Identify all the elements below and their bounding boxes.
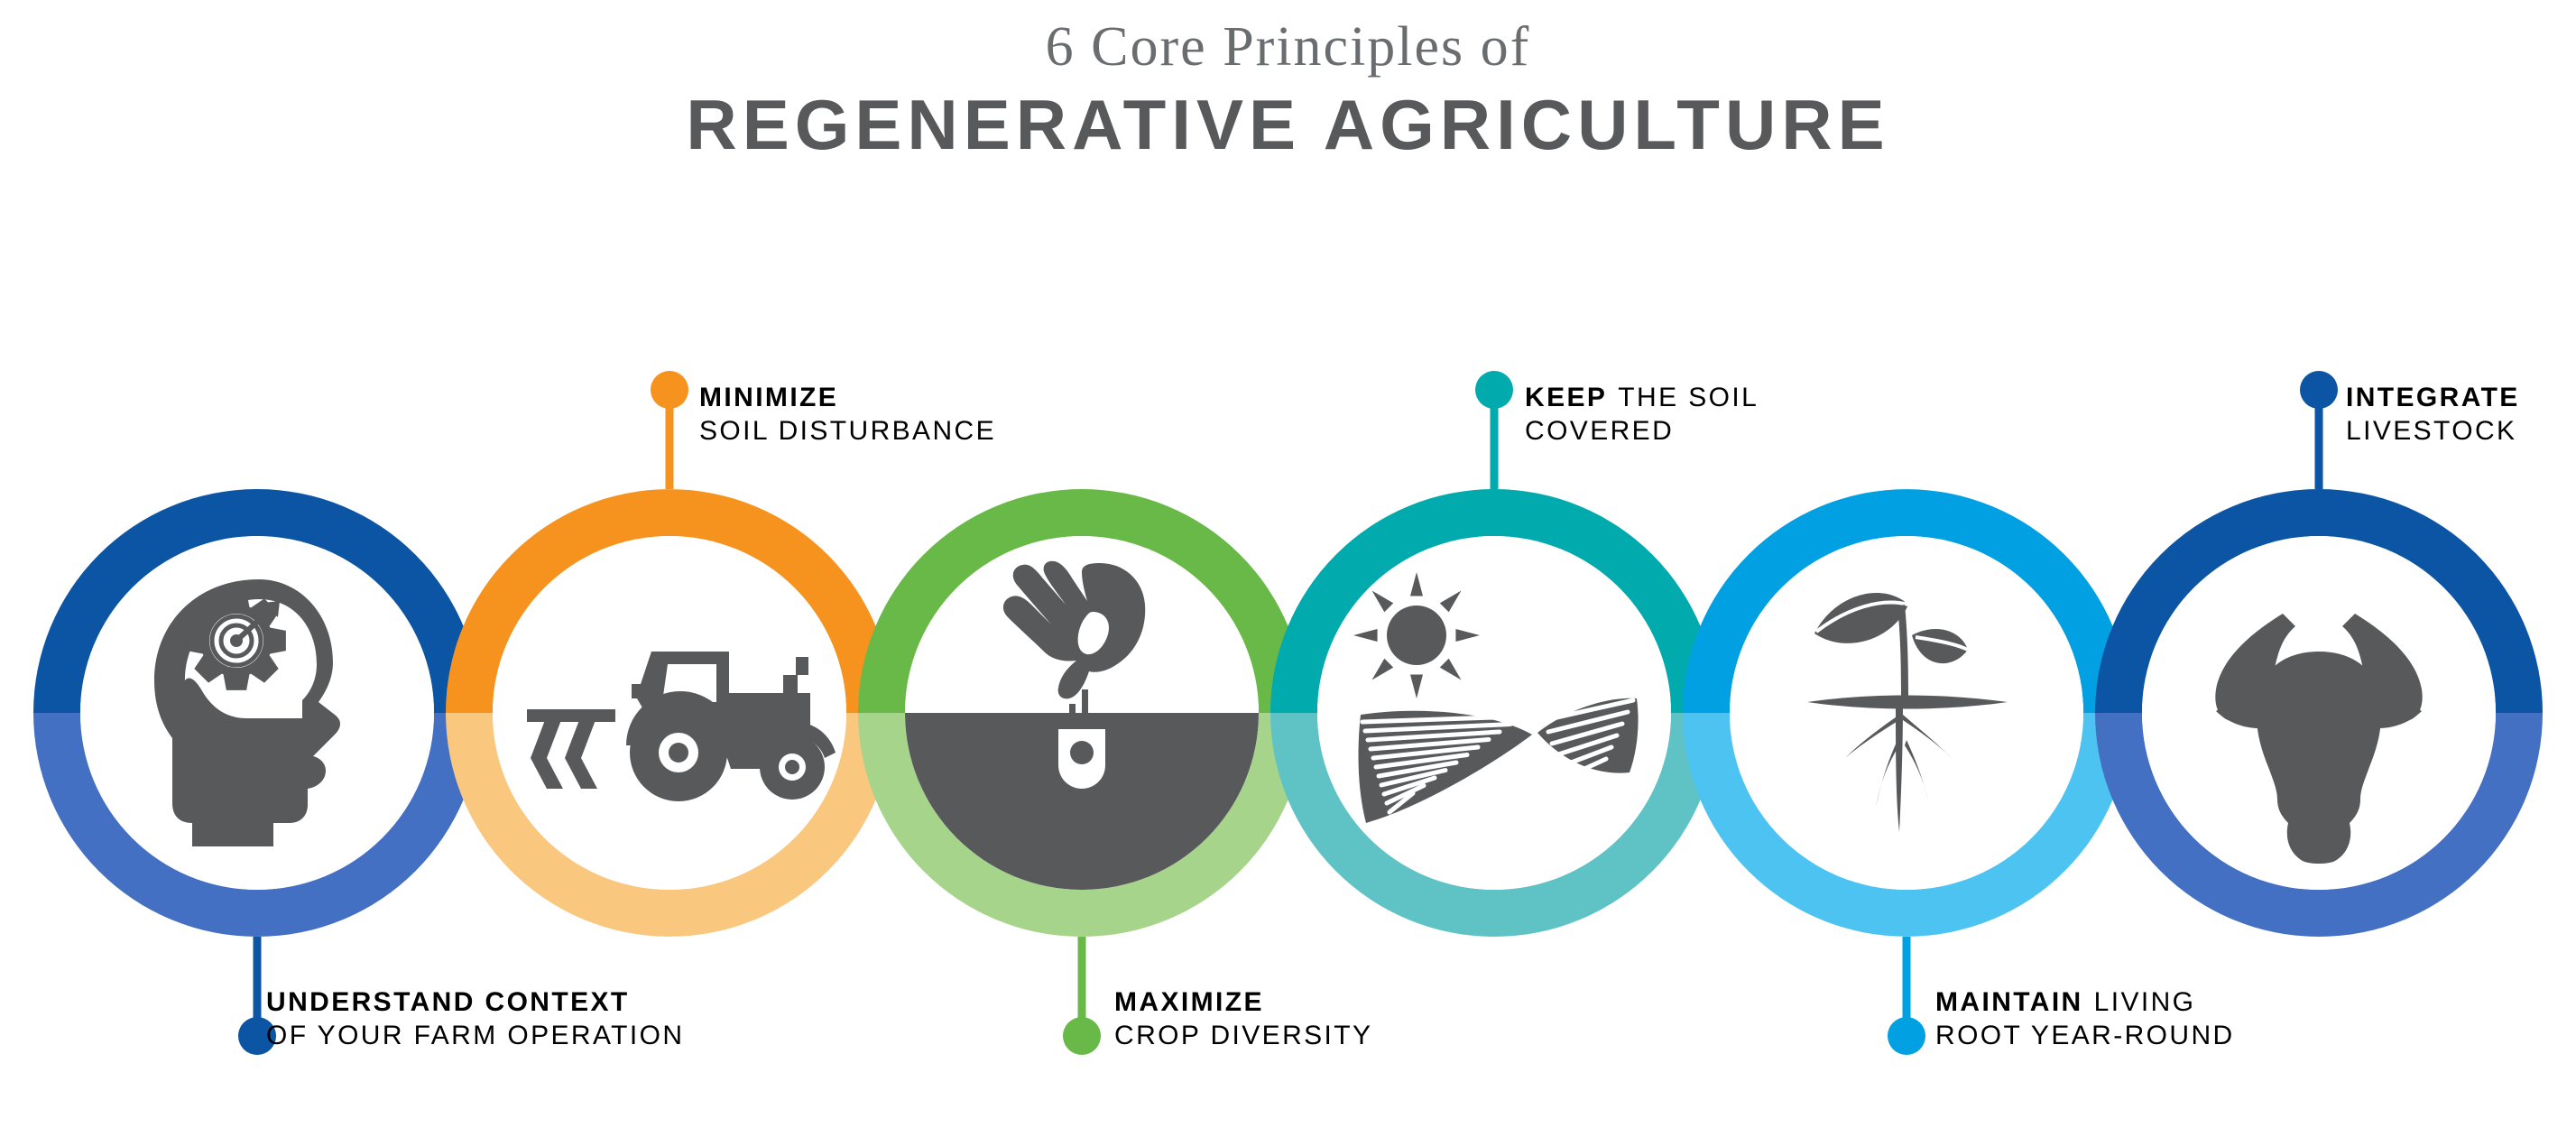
ring-inner-disc-maintain-living-root xyxy=(1730,536,2083,890)
callout-maximize-crop-diversity[interactable]: MAXIMIZE CROP DIVERSITY xyxy=(1114,986,1372,1052)
callout-keep-the-soil-covered[interactable]: KEEPTHE SOIL COVERED xyxy=(1525,382,1759,448)
callout-3-rest: CROP DIVERSITY xyxy=(1114,1021,1372,1050)
callout-6-rest: LIVESTOCK xyxy=(2346,416,2516,446)
callout-2-strong: MINIMIZE xyxy=(699,383,838,412)
callout-5-strong: MAINTAIN xyxy=(1935,987,2083,1017)
seed-trail-long xyxy=(1082,689,1088,722)
callout-maintain-living-root[interactable]: MAINTAINLIVING ROOT YEAR-ROUND xyxy=(1935,986,2235,1052)
callout-integrate-livestock[interactable]: INTEGRATE LIVESTOCK xyxy=(2346,382,2520,448)
connector-minimize-soil-disturbance xyxy=(651,371,688,489)
principle-ring-understand-context[interactable] xyxy=(33,489,481,937)
callout-1-rest: OF YOUR FARM OPERATION xyxy=(266,1021,684,1050)
callout-minimize-soil-disturbance[interactable]: MINIMIZE SOIL DISTURBANCE xyxy=(699,382,996,448)
callout-3-strong: MAXIMIZE xyxy=(1114,987,1264,1017)
seed-dot xyxy=(1070,741,1094,764)
tractor-front-hub xyxy=(785,760,799,774)
callout-1-strong: UNDERSTAND CONTEXT xyxy=(266,987,630,1017)
callout-4-rest-line2: COVERED xyxy=(1525,416,1674,446)
principle-rings-diagram xyxy=(0,0,2576,1128)
connector-keep-the-soil-covered xyxy=(1475,371,1513,489)
connector-maintain-living-root xyxy=(1888,937,1925,1055)
connector-dot-minimize-soil-disturbance xyxy=(651,371,688,409)
tractor-rear-hub xyxy=(669,743,688,763)
connector-dot-maintain-living-root xyxy=(1888,1017,1925,1055)
callout-4-rest-line1: THE SOIL xyxy=(1618,383,1759,412)
infographic-canvas: 6 Core Principles of REGENERATIVE AGRICU… xyxy=(0,0,2576,1128)
connector-maximize-crop-diversity xyxy=(1063,937,1101,1055)
callout-2-rest: SOIL DISTURBANCE xyxy=(699,416,996,446)
sun-disc xyxy=(1387,606,1446,665)
callout-5-rest-line2: ROOT YEAR-ROUND xyxy=(1935,1021,2235,1050)
principle-ring-keep-the-soil-covered[interactable] xyxy=(1270,489,1718,937)
connector-integrate-livestock xyxy=(2300,371,2338,489)
gear-shape xyxy=(187,591,286,690)
seed-trail-short xyxy=(1069,704,1076,722)
connector-dot-maximize-crop-diversity xyxy=(1063,1017,1101,1055)
callout-6-strong: INTEGRATE xyxy=(2346,383,2520,412)
callout-5-rest-line1: LIVING xyxy=(2094,987,2196,1017)
connector-dot-integrate-livestock xyxy=(2300,371,2338,409)
principle-ring-maintain-living-root[interactable] xyxy=(1683,489,2130,937)
callout-understand-context[interactable]: UNDERSTAND CONTEXT OF YOUR FARM OPERATIO… xyxy=(266,986,684,1052)
plow-bar xyxy=(527,709,615,722)
connector-dot-keep-the-soil-covered xyxy=(1475,371,1513,409)
callout-4-strong: KEEP xyxy=(1525,383,1607,412)
